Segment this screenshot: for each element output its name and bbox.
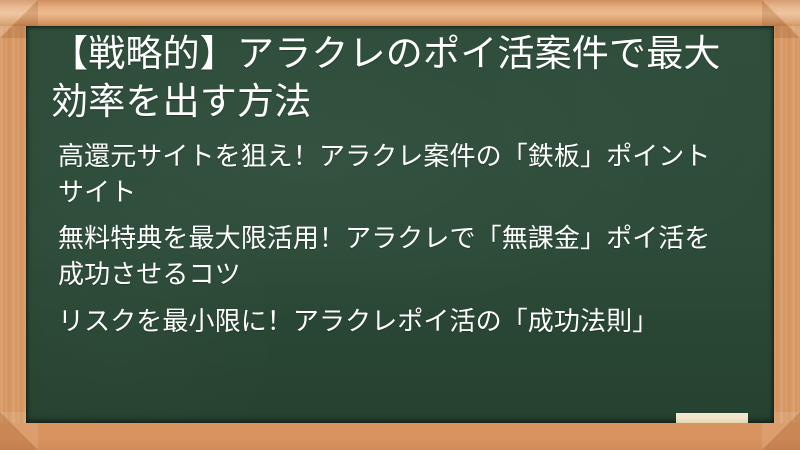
bullet-item: 無料特典を最大限活用！アラクレで「無課金」ポイ活を成功させるコツ bbox=[58, 221, 726, 292]
chalkboard-surface: 【戦略的】アラクレのポイ活案件で最大効率を出す方法 高還元サイトを狙え！アラクレ… bbox=[26, 26, 774, 423]
chalk-eraser-icon bbox=[676, 413, 748, 423]
bullet-item: リスクを最小限に！アラクレポイ活の「成功法則」 bbox=[58, 304, 726, 340]
wood-frame-top-rail bbox=[0, 0, 800, 26]
bullet-item: 高還元サイトを狙え！アラクレ案件の「鉄板」ポイントサイト bbox=[58, 139, 726, 210]
bullet-list: 高還元サイトを狙え！アラクレ案件の「鉄板」ポイントサイト 無料特典を最大限活用！… bbox=[47, 139, 752, 339]
board-content-area: 【戦略的】アラクレのポイ活案件で最大効率を出す方法 高還元サイトを狙え！アラクレ… bbox=[26, 26, 774, 423]
wood-frame-bottom-rail bbox=[0, 423, 800, 450]
slide-title: 【戦略的】アラクレのポイ活案件で最大効率を出す方法 bbox=[47, 30, 752, 126]
blackboard-slide: 【戦略的】アラクレのポイ活案件で最大効率を出す方法 高還元サイトを狙え！アラクレ… bbox=[0, 0, 800, 450]
